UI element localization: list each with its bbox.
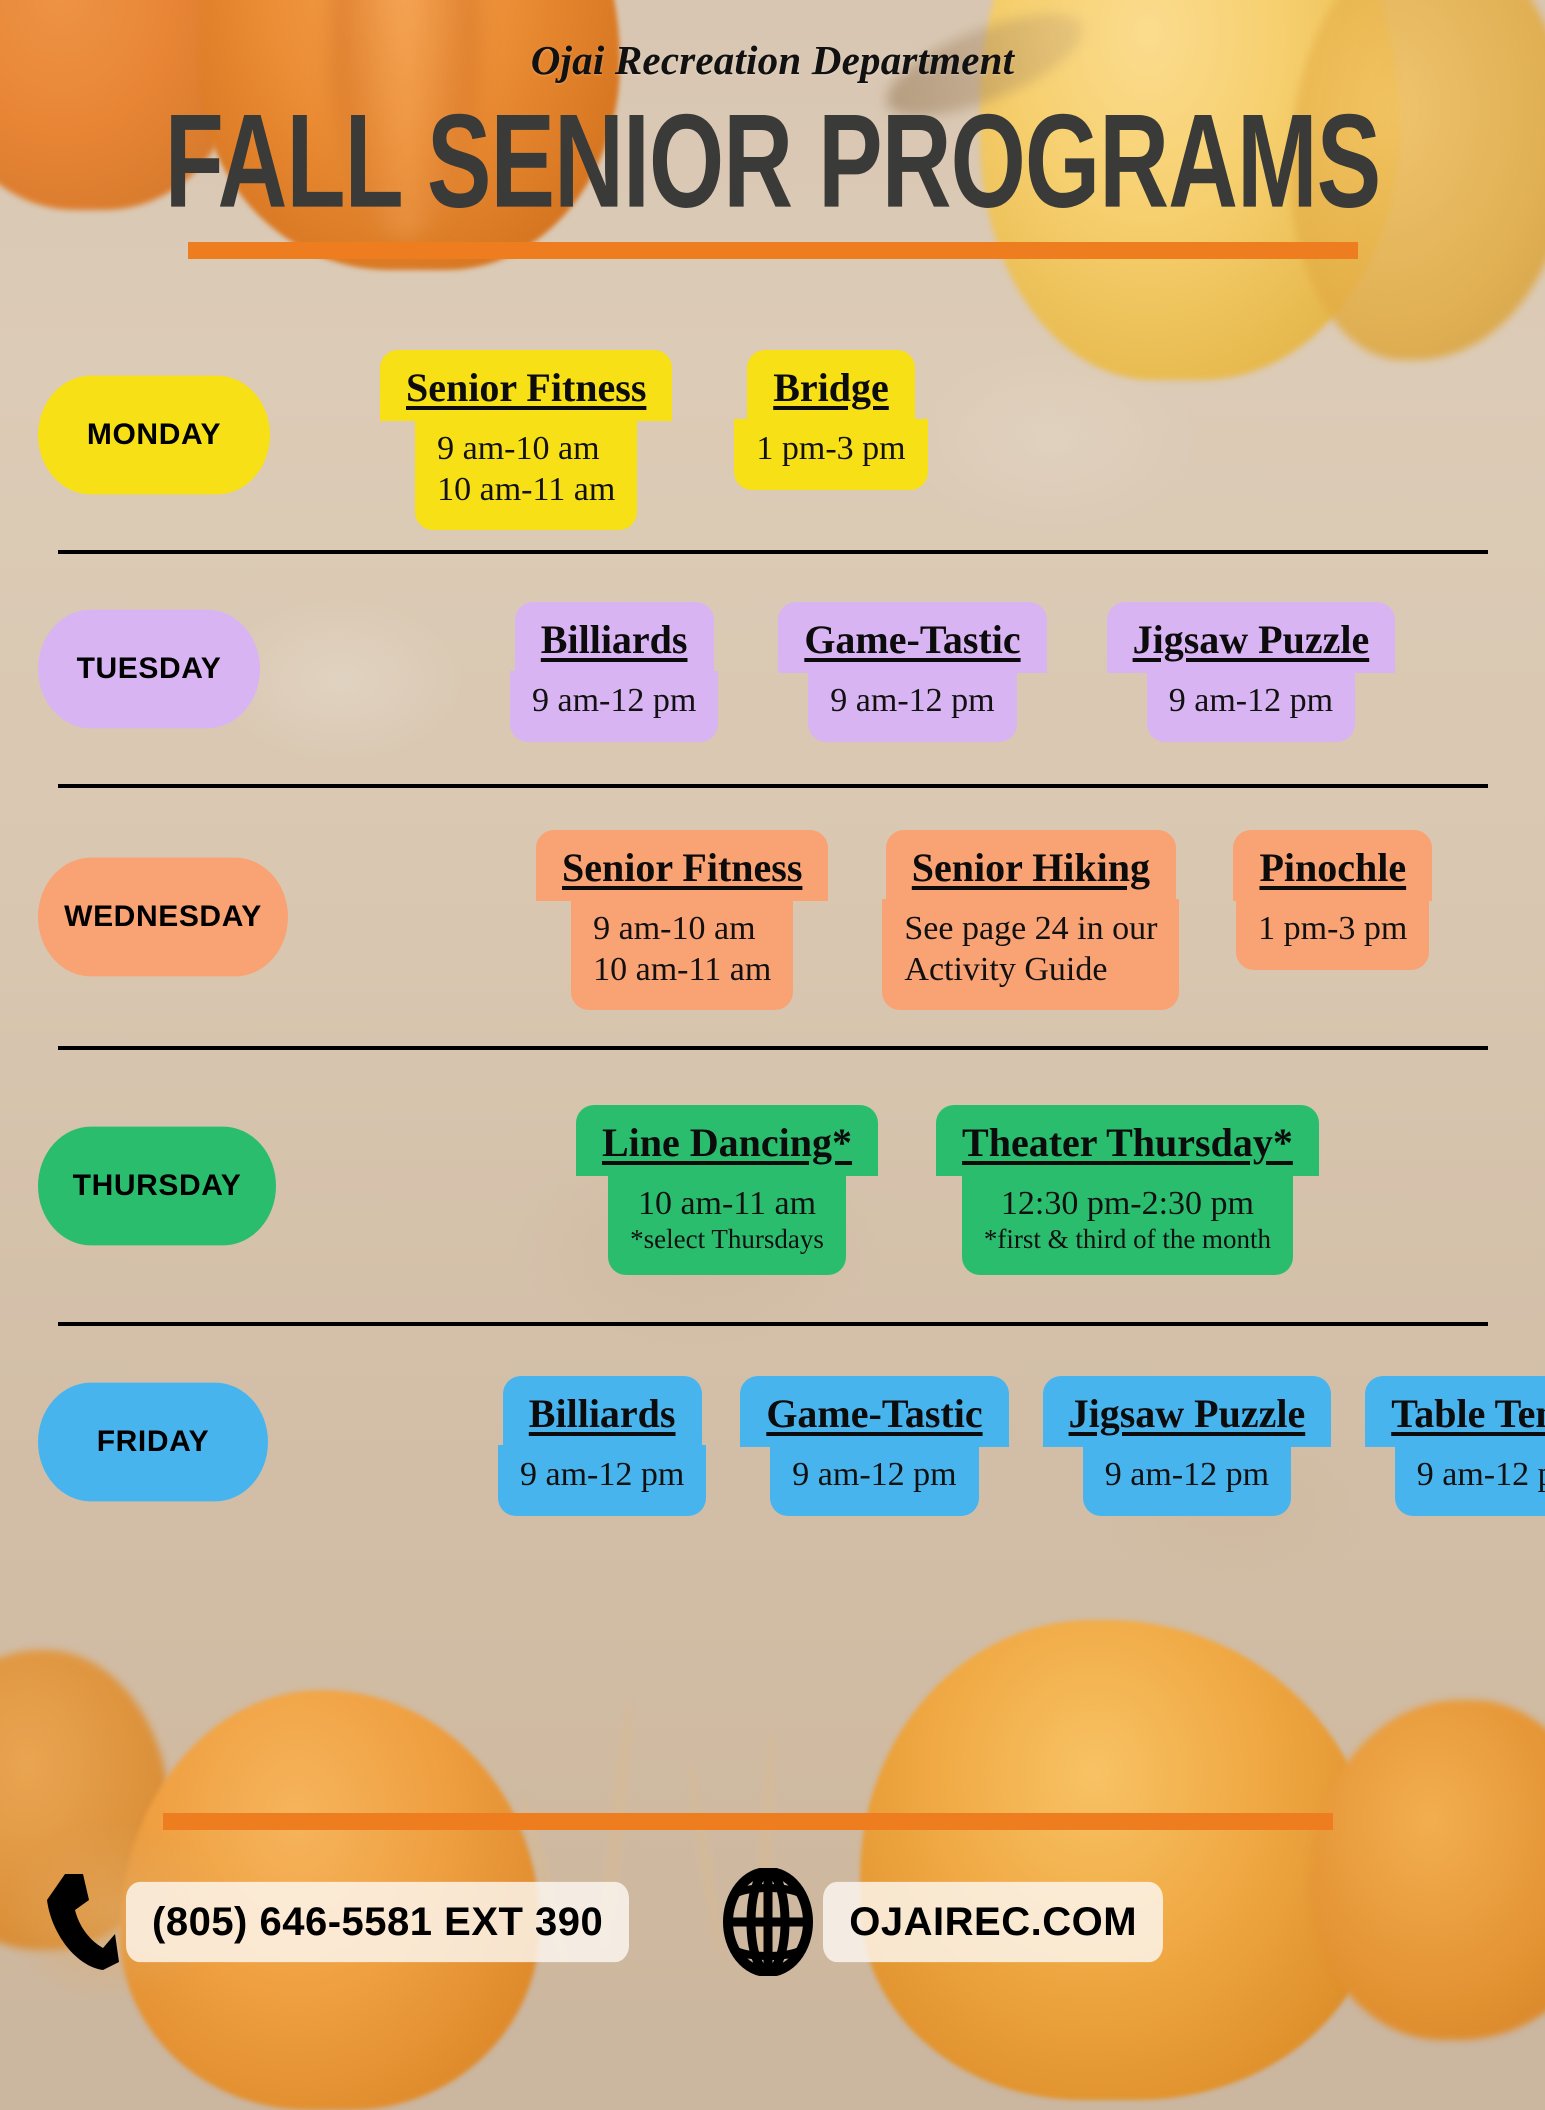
day-label: WEDNESDAY: [64, 900, 262, 934]
program-card[interactable]: Billiards9 am-12 pm: [510, 602, 718, 741]
program-name: Game-Tastic: [804, 616, 1020, 663]
program-card-header: Billiards: [503, 1376, 702, 1447]
page-title: FALL SENIOR PROGRAMS: [54, 94, 1491, 230]
program-time-line: 9 am-12 pm: [532, 681, 696, 721]
department-name: Ojai Recreation Department: [0, 36, 1545, 84]
program-name: Table Tennis: [1391, 1390, 1545, 1437]
program-time-line: See page 24 in our: [904, 909, 1157, 949]
program-card[interactable]: Senior Fitness9 am-10 am10 am-11 am: [380, 350, 672, 529]
phone-icon: [40, 1867, 126, 1977]
day-label: TUESDAY: [77, 652, 222, 686]
program-name: Jigsaw Puzzle: [1133, 616, 1370, 663]
program-card-header: Game-Tastic: [740, 1376, 1008, 1447]
program-time-line: 9 am-12 pm: [1105, 1455, 1269, 1495]
program-card[interactable]: Senior Fitness9 am-10 am10 am-11 am: [536, 830, 828, 1009]
program-time: 9 am-10 am10 am-11 am: [593, 909, 771, 989]
phone-number: (805) 646-5581 EXT 390: [152, 1902, 603, 1942]
schedule-row-tuesday: TUESDAYBilliards9 am-12 pmGame-Tastic9 a…: [0, 554, 1545, 784]
top-accent-rule: [188, 242, 1358, 259]
program-card-body: See page 24 in ourActivity Guide: [882, 899, 1179, 1009]
program-card-body: 9 am-12 pm: [770, 1445, 978, 1515]
website-url: OJAIREC.COM: [849, 1902, 1137, 1942]
program-note: *first & third of the month: [984, 1224, 1271, 1256]
program-card[interactable]: Table Tennis9 am-12 pm: [1365, 1376, 1545, 1515]
program-time-line: 10 am-11 am: [437, 470, 615, 510]
program-time: 9 am-10 am10 am-11 am: [437, 429, 615, 509]
program-time: 9 am-12 pm: [1417, 1455, 1545, 1495]
website-pill: OJAIREC.COM: [823, 1882, 1163, 1962]
program-name: Senior Hiking: [912, 844, 1150, 891]
program-time: 1 pm-3 pm: [756, 429, 905, 469]
program-note: *select Thursdays: [630, 1224, 824, 1256]
program-time-line: 9 am-12 pm: [1169, 681, 1333, 721]
day-label: MONDAY: [87, 418, 221, 452]
program-card[interactable]: Game-Tastic9 am-12 pm: [778, 602, 1046, 741]
program-name: Game-Tastic: [766, 1390, 982, 1437]
program-time: 12:30 pm-2:30 pm: [1001, 1184, 1254, 1224]
program-name: Pinochle: [1259, 844, 1406, 891]
program-name: Bridge: [773, 364, 889, 411]
program-card-group: Billiards9 am-12 pmGame-Tastic9 am-12 pm…: [498, 1368, 1545, 1515]
day-pill-thursday: THURSDAY: [38, 1127, 276, 1246]
program-card-header: Jigsaw Puzzle: [1107, 602, 1396, 673]
program-time-line: 9 am-12 pm: [792, 1455, 956, 1495]
program-card-body: 9 am-12 pm: [1083, 1445, 1291, 1515]
schedule-row-wednesday: WEDNESDAYSenior Fitness9 am-10 am10 am-1…: [0, 788, 1545, 1046]
program-card-group: Senior Fitness9 am-10 am10 am-11 amSenio…: [536, 824, 1507, 1009]
program-time-line: Activity Guide: [904, 950, 1157, 990]
program-card-body: 10 am-11 am*select Thursdays: [608, 1174, 846, 1276]
day-pill-monday: MONDAY: [38, 376, 270, 495]
program-time-line: 1 pm-3 pm: [1258, 909, 1407, 949]
program-card[interactable]: Bridge1 pm-3 pm: [734, 350, 927, 489]
program-time-line: 9 am-10 am: [437, 429, 615, 469]
program-time: 9 am-12 pm: [792, 1455, 956, 1495]
day-pill-tuesday: TUESDAY: [38, 610, 260, 729]
program-card-group: Senior Fitness9 am-10 am10 am-11 amBridg…: [380, 340, 1507, 529]
program-name: Jigsaw Puzzle: [1069, 1390, 1306, 1437]
schedule-row-monday: MONDAYSenior Fitness9 am-10 am10 am-11 a…: [0, 320, 1545, 550]
website-contact[interactable]: OJAIREC.COM: [713, 1866, 1163, 1978]
program-name: Line Dancing*: [602, 1119, 852, 1166]
phone-contact[interactable]: (805) 646-5581 EXT 390: [40, 1867, 629, 1977]
program-name: Senior Fitness: [406, 364, 646, 411]
program-card-body: 9 am-12 pm: [1147, 671, 1355, 741]
program-time: 9 am-12 pm: [520, 1455, 684, 1495]
program-time: 9 am-12 pm: [1169, 681, 1333, 721]
program-time: See page 24 in ourActivity Guide: [904, 909, 1157, 989]
program-card-body: 1 pm-3 pm: [1236, 899, 1429, 969]
globe-icon: [713, 1866, 823, 1978]
program-time-line: 12:30 pm-2:30 pm: [1001, 1184, 1254, 1224]
program-time: 1 pm-3 pm: [1258, 909, 1407, 949]
program-name: Billiards: [529, 1390, 676, 1437]
program-card-header: Senior Fitness: [536, 830, 828, 901]
program-card-header: Game-Tastic: [778, 602, 1046, 673]
weekly-schedule: MONDAYSenior Fitness9 am-10 am10 am-11 a…: [0, 320, 1545, 1558]
schedule-row-friday: FRIDAYBilliards9 am-12 pmGame-Tastic9 am…: [0, 1326, 1545, 1558]
program-card[interactable]: Senior HikingSee page 24 in ourActivity …: [882, 830, 1179, 1009]
program-card-header: Billiards: [515, 602, 714, 673]
program-time: 9 am-12 pm: [532, 681, 696, 721]
program-card-body: 9 am-12 pm: [498, 1445, 706, 1515]
program-name: Theater Thursday*: [962, 1119, 1293, 1166]
program-time-line: 9 am-12 pm: [520, 1455, 684, 1495]
program-card[interactable]: Billiards9 am-12 pm: [498, 1376, 706, 1515]
program-card-group: Billiards9 am-12 pmGame-Tastic9 am-12 pm…: [510, 596, 1507, 741]
program-card-body: 9 am-12 pm: [510, 671, 718, 741]
program-time-line: 10 am-11 am: [638, 1184, 816, 1224]
program-time: 10 am-11 am: [638, 1184, 816, 1224]
program-card-body: 9 am-10 am10 am-11 am: [415, 419, 637, 529]
program-card[interactable]: Game-Tastic9 am-12 pm: [740, 1376, 1008, 1515]
program-card-header: Senior Hiking: [886, 830, 1176, 901]
program-card-header: Pinochle: [1233, 830, 1432, 901]
program-time-line: 9 am-12 pm: [830, 681, 994, 721]
program-time-line: 9 am-10 am: [593, 909, 771, 949]
program-time: 9 am-12 pm: [1105, 1455, 1269, 1495]
day-pill-wednesday: WEDNESDAY: [38, 858, 288, 977]
bottom-accent-rule: [163, 1813, 1333, 1830]
program-card[interactable]: Theater Thursday*12:30 pm-2:30 pm*first …: [936, 1105, 1319, 1276]
poster-header: Ojai Recreation Department FALL SENIOR P…: [0, 0, 1545, 259]
program-card[interactable]: Pinochle1 pm-3 pm: [1233, 830, 1432, 969]
footer-contact-bar: (805) 646-5581 EXT 390 OJAIREC.COM: [0, 1862, 1545, 1982]
program-time-line: 1 pm-3 pm: [756, 429, 905, 469]
schedule-row-thursday: THURSDAYLine Dancing*10 am-11 am*select …: [0, 1050, 1545, 1322]
program-time: 9 am-12 pm: [830, 681, 994, 721]
day-label: FRIDAY: [97, 1425, 210, 1459]
program-card[interactable]: Line Dancing*10 am-11 am*select Thursday…: [576, 1105, 878, 1276]
program-card-group: Line Dancing*10 am-11 am*select Thursday…: [576, 1097, 1507, 1276]
program-time-line: 10 am-11 am: [593, 950, 771, 990]
program-name: Billiards: [541, 616, 688, 663]
program-card-header: Senior Fitness: [380, 350, 672, 421]
program-card-header: Line Dancing*: [576, 1105, 878, 1176]
program-card[interactable]: Jigsaw Puzzle9 am-12 pm: [1043, 1376, 1332, 1515]
program-card-body: 1 pm-3 pm: [734, 419, 927, 489]
program-time-line: 9 am-12 pm: [1417, 1455, 1545, 1495]
program-card[interactable]: Jigsaw Puzzle9 am-12 pm: [1107, 602, 1396, 741]
program-card-body: 9 am-12 pm: [808, 671, 1016, 741]
phone-number-pill: (805) 646-5581 EXT 390: [126, 1882, 629, 1962]
program-card-header: Bridge: [747, 350, 915, 421]
program-card-body: 9 am-10 am10 am-11 am: [571, 899, 793, 1009]
program-card-header: Theater Thursday*: [936, 1105, 1319, 1176]
program-card-header: Table Tennis: [1365, 1376, 1545, 1447]
day-pill-friday: FRIDAY: [38, 1383, 268, 1502]
program-card-header: Jigsaw Puzzle: [1043, 1376, 1332, 1447]
program-card-body: 9 am-12 pm: [1395, 1445, 1545, 1515]
program-card-body: 12:30 pm-2:30 pm*first & third of the mo…: [962, 1174, 1293, 1276]
program-name: Senior Fitness: [562, 844, 802, 891]
day-label: THURSDAY: [73, 1169, 242, 1203]
